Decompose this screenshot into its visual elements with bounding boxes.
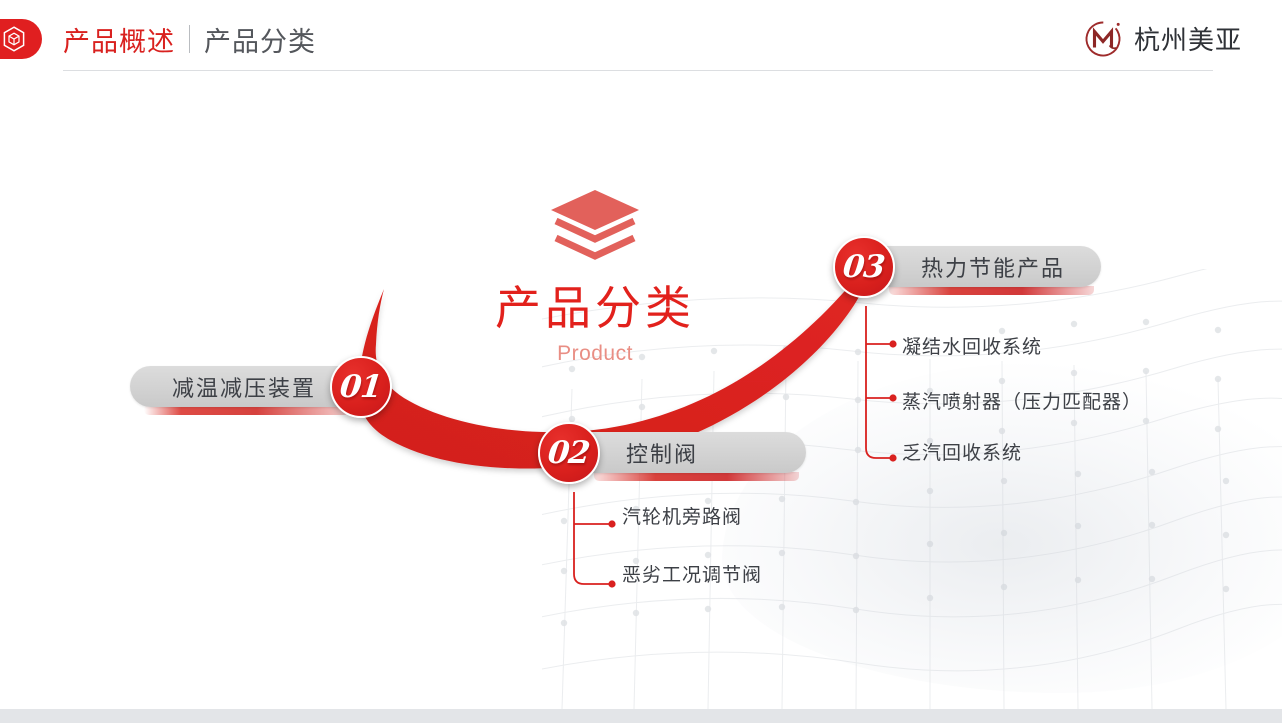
header-badge [0,19,42,59]
category-badge-03[interactable]: 03 [833,236,895,298]
category-pill-wrap-01: 减温减压装置 01 [130,366,365,407]
subitem-02-1: 恶劣工况调节阀 [622,560,762,587]
category-pill-wrap-02: 控制阀 02 [538,432,806,473]
page-subtitle: 产品分类 [204,20,316,59]
brand-name: 杭州美亚 [1134,20,1242,57]
center-title-block: 产品分类 Product [466,188,724,366]
category-number-02: 02 [547,435,592,471]
bottom-strip [0,709,1282,723]
slide-canvas: 产品概述 产品分类 杭州美亚 [0,0,1282,723]
meiya-circle-m-logo-icon [1082,16,1126,60]
category-item-01[interactable]: 减温减压装置 01 [130,366,365,407]
page-title: 产品概述 [63,20,175,59]
subitem-group-02: 汽轮机旁路阀 恶劣工况调节阀 [566,492,866,602]
category-badge-01[interactable]: 01 [330,356,392,418]
cube-hexagon-icon [2,26,26,52]
subitem-03-1: 蒸汽喷射器（压力匹配器） [902,387,1142,414]
subitem-group-03: 凝结水回收系统 蒸汽喷射器（压力匹配器） 乏汽回收系统 [858,306,1188,476]
brand-group: 杭州美亚 [1082,15,1242,61]
category-number-01: 01 [339,369,384,405]
subitem-03-2: 乏汽回收系统 [902,438,1022,465]
layers-stack-icon [547,188,643,270]
header-title-group: 产品概述 产品分类 [63,19,316,59]
category-pill-wrap-03: 热力节能产品 03 [833,246,1101,287]
center-title: 产品分类 [466,284,724,334]
category-label-02: 控制阀 [626,437,698,469]
category-item-02[interactable]: 控制阀 02 [538,432,806,473]
header-rule [63,70,1213,71]
category-label-01: 减温减压装置 [172,371,316,403]
category-item-03[interactable]: 热力节能产品 03 [833,246,1101,287]
category-number-03: 03 [842,249,887,285]
pill-underline-03 [889,286,1094,295]
slide-header: 产品概述 产品分类 杭州美亚 [0,0,1282,76]
category-label-03: 热力节能产品 [921,251,1065,283]
title-divider [189,25,190,53]
category-badge-02[interactable]: 02 [538,422,600,484]
subitem-03-0: 凝结水回收系统 [902,332,1042,359]
center-subtitle: Product [466,342,724,366]
pill-underline-02 [594,472,799,481]
subitem-02-0: 汽轮机旁路阀 [622,502,742,529]
pill-underline-01 [144,406,349,415]
